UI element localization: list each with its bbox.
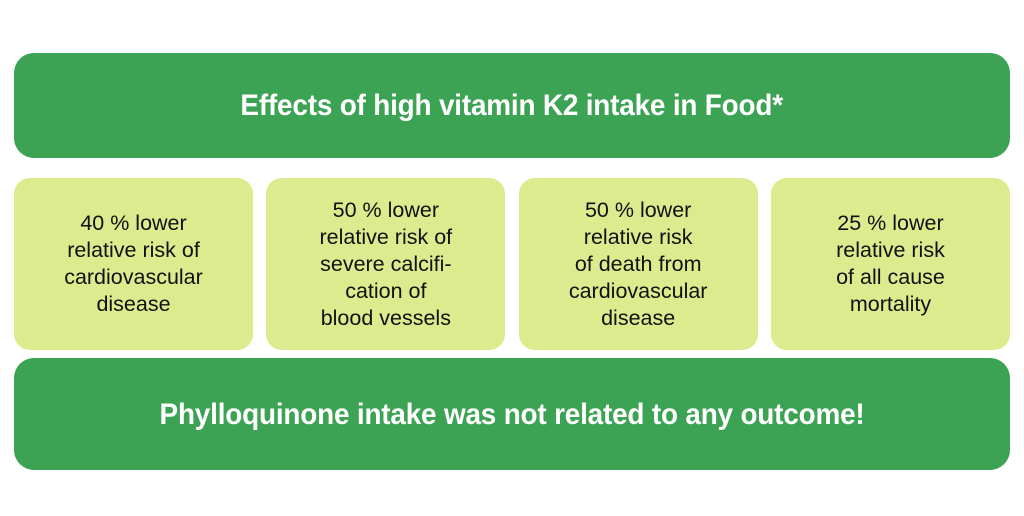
outcome-line: cardiovascular [64,264,203,291]
outcome-text: 50 % lower relative risk of death from c… [569,197,708,332]
outcome-box-all-cause-mortality: 25 % lower relative risk of all cause mo… [771,178,1010,350]
outcome-text: 40 % lower relative risk of cardiovascul… [64,210,203,318]
infographic-root: Effects of high vitamin K2 intake in Foo… [0,0,1024,516]
outcome-line: 50 % lower [569,197,708,224]
outcome-box-cardiovascular-disease: 40 % lower relative risk of cardiovascul… [14,178,253,350]
outcome-box-severe-calcification: 50 % lower relative risk of severe calci… [266,178,505,350]
outcome-line: relative risk of [320,224,453,251]
footer-banner: Phylloquinone intake was not related to … [14,358,1010,470]
outcome-line: 25 % lower [836,210,945,237]
outcomes-row: 40 % lower relative risk of cardiovascul… [14,178,1010,350]
outcome-line: 40 % lower [64,210,203,237]
outcome-line: relative risk [836,237,945,264]
outcome-line: of death from [569,251,708,278]
outcome-line: blood vessels [320,305,453,332]
footer-statement: Phylloquinone intake was not related to … [160,398,865,431]
outcome-line: of all cause [836,264,945,291]
outcome-line: cation of [320,278,453,305]
outcome-line: mortality [836,291,945,318]
outcome-line: 50 % lower [320,197,453,224]
outcome-line: relative risk of [64,237,203,264]
outcome-line: cardiovascular [569,278,708,305]
outcome-line: relative risk [569,224,708,251]
outcome-text: 25 % lower relative risk of all cause mo… [836,210,945,318]
outcome-line: severe calcifi- [320,251,453,278]
outcome-box-death-from-cvd: 50 % lower relative risk of death from c… [519,178,758,350]
header-banner: Effects of high vitamin K2 intake in Foo… [14,53,1010,158]
page-title: Effects of high vitamin K2 intake in Foo… [241,89,783,122]
outcome-text: 50 % lower relative risk of severe calci… [320,197,453,332]
outcome-line: disease [64,291,203,318]
outcome-line: disease [569,305,708,332]
